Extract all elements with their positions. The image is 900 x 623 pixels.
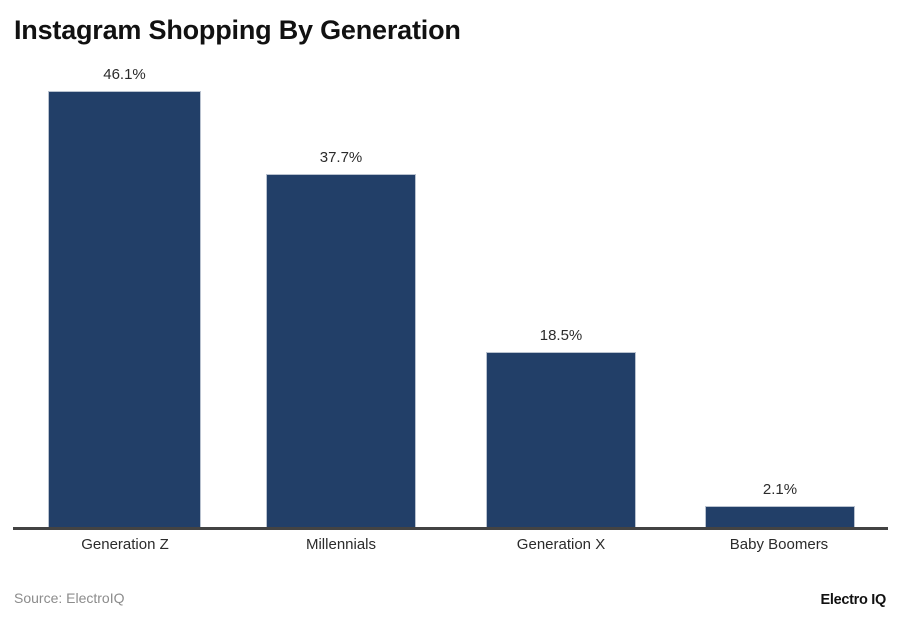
bar-value-label: 18.5% (540, 327, 583, 344)
bar-group: 46.1% (48, 0, 201, 530)
x-tick-generation-x: Generation X (517, 536, 605, 553)
x-tick-generation-z: Generation Z (81, 536, 169, 553)
x-axis-tick-labels: Generation Z Millennials Generation X Ba… (0, 536, 900, 562)
bar-generation-x[interactable] (486, 352, 636, 530)
bar-value-label: 46.1% (103, 66, 146, 83)
brand-logo: Electro IQ (821, 592, 887, 608)
bar-group: 18.5% (486, 0, 636, 530)
bar-group: 37.7% (266, 0, 416, 530)
bar-generation-z[interactable] (48, 91, 201, 530)
source-note: Source: ElectroIQ (14, 590, 125, 606)
x-tick-baby-boomers: Baby Boomers (730, 536, 828, 553)
bar-value-label: 37.7% (320, 149, 363, 166)
bar-group: 2.1% (705, 0, 855, 530)
plot-area: 46.1% 37.7% 18.5% 2.1% (0, 0, 900, 530)
bar-millennials[interactable] (266, 174, 416, 530)
chart-figure: Instagram Shopping By Generation 46.1% 3… (0, 0, 900, 623)
bar-value-label: 2.1% (763, 481, 797, 498)
x-tick-millennials: Millennials (306, 536, 376, 553)
x-axis-line (13, 527, 888, 530)
